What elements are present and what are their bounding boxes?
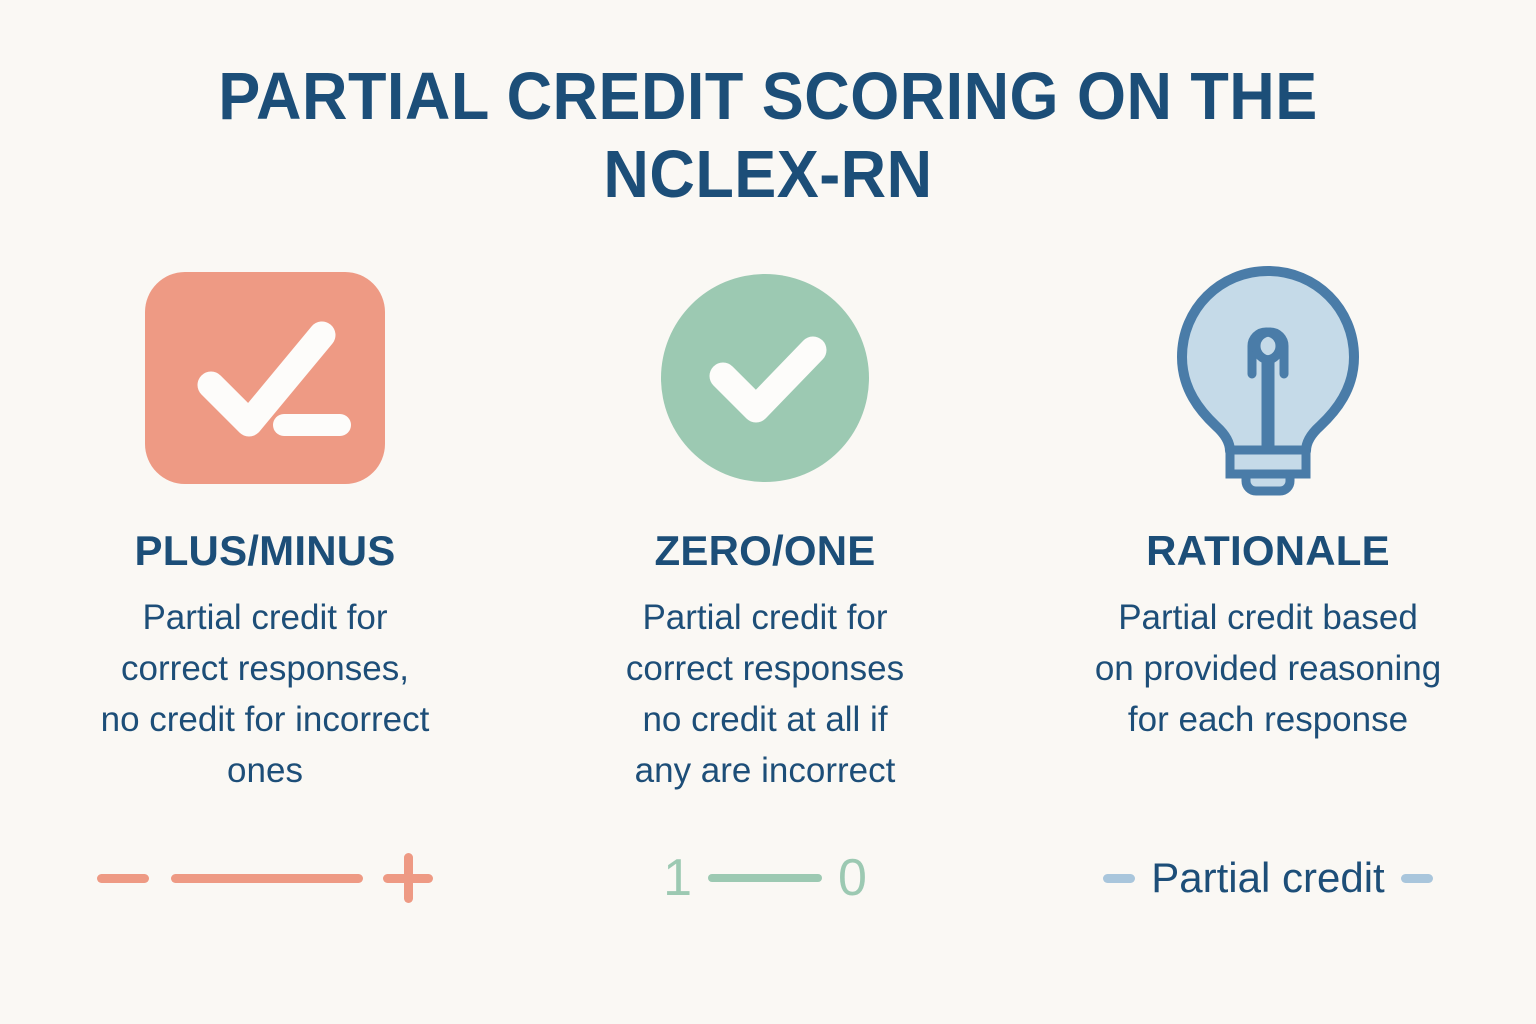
column-rationale: RATIONALE Partial credit based on provid… [1000,258,1536,745]
check-circle-icon [645,258,885,498]
check-minus-square-svg [145,268,385,488]
footer-partial-credit-label: Partial credit [1000,846,1536,910]
page-title: PARTIAL CREDIT SCORING ON THE NCLEX-RN [0,58,1536,214]
footer-indicators: 1 0 Partial credit [0,846,1536,910]
dash-right-icon [1401,874,1433,883]
column-zero-one: ZERO/ONE Partial credit for correct resp… [530,258,1000,796]
dash-left-icon [1103,874,1135,883]
title-line-2: NCLEX-RN [46,136,1490,214]
range-line [708,874,822,882]
infographic-page: PARTIAL CREDIT SCORING ON THE NCLEX-RN P… [0,0,1536,1024]
partial-credit-text: Partial credit [1151,855,1384,901]
footer-zero-one-range: 1 0 [530,846,1000,910]
scale-line [171,874,363,883]
lightbulb-svg [1168,261,1368,496]
column-plus-minus: PLUS/MINUS Partial credit for correct re… [0,258,530,796]
title-line-1: PARTIAL CREDIT SCORING ON THE [46,58,1490,136]
lightbulb-icon [1148,258,1388,498]
check-minus-square-icon [145,258,385,498]
range-right-value: 0 [838,852,867,904]
column-body-text: Partial credit based on provided reasoni… [1033,592,1503,745]
check-circle-svg [655,268,875,488]
columns-container: PLUS/MINUS Partial credit for correct re… [0,258,1536,796]
column-body-text: Partial credit for correct responses, no… [50,592,480,796]
column-heading: RATIONALE [1146,528,1390,574]
footer-plus-minus-scale [0,846,530,910]
column-heading: ZERO/ONE [655,528,876,574]
column-heading: PLUS/MINUS [134,528,395,574]
column-body-text: Partial credit for correct responses no … [565,592,965,796]
plus-icon [383,853,433,903]
range-left-value: 1 [663,852,692,904]
minus-icon [97,874,149,883]
